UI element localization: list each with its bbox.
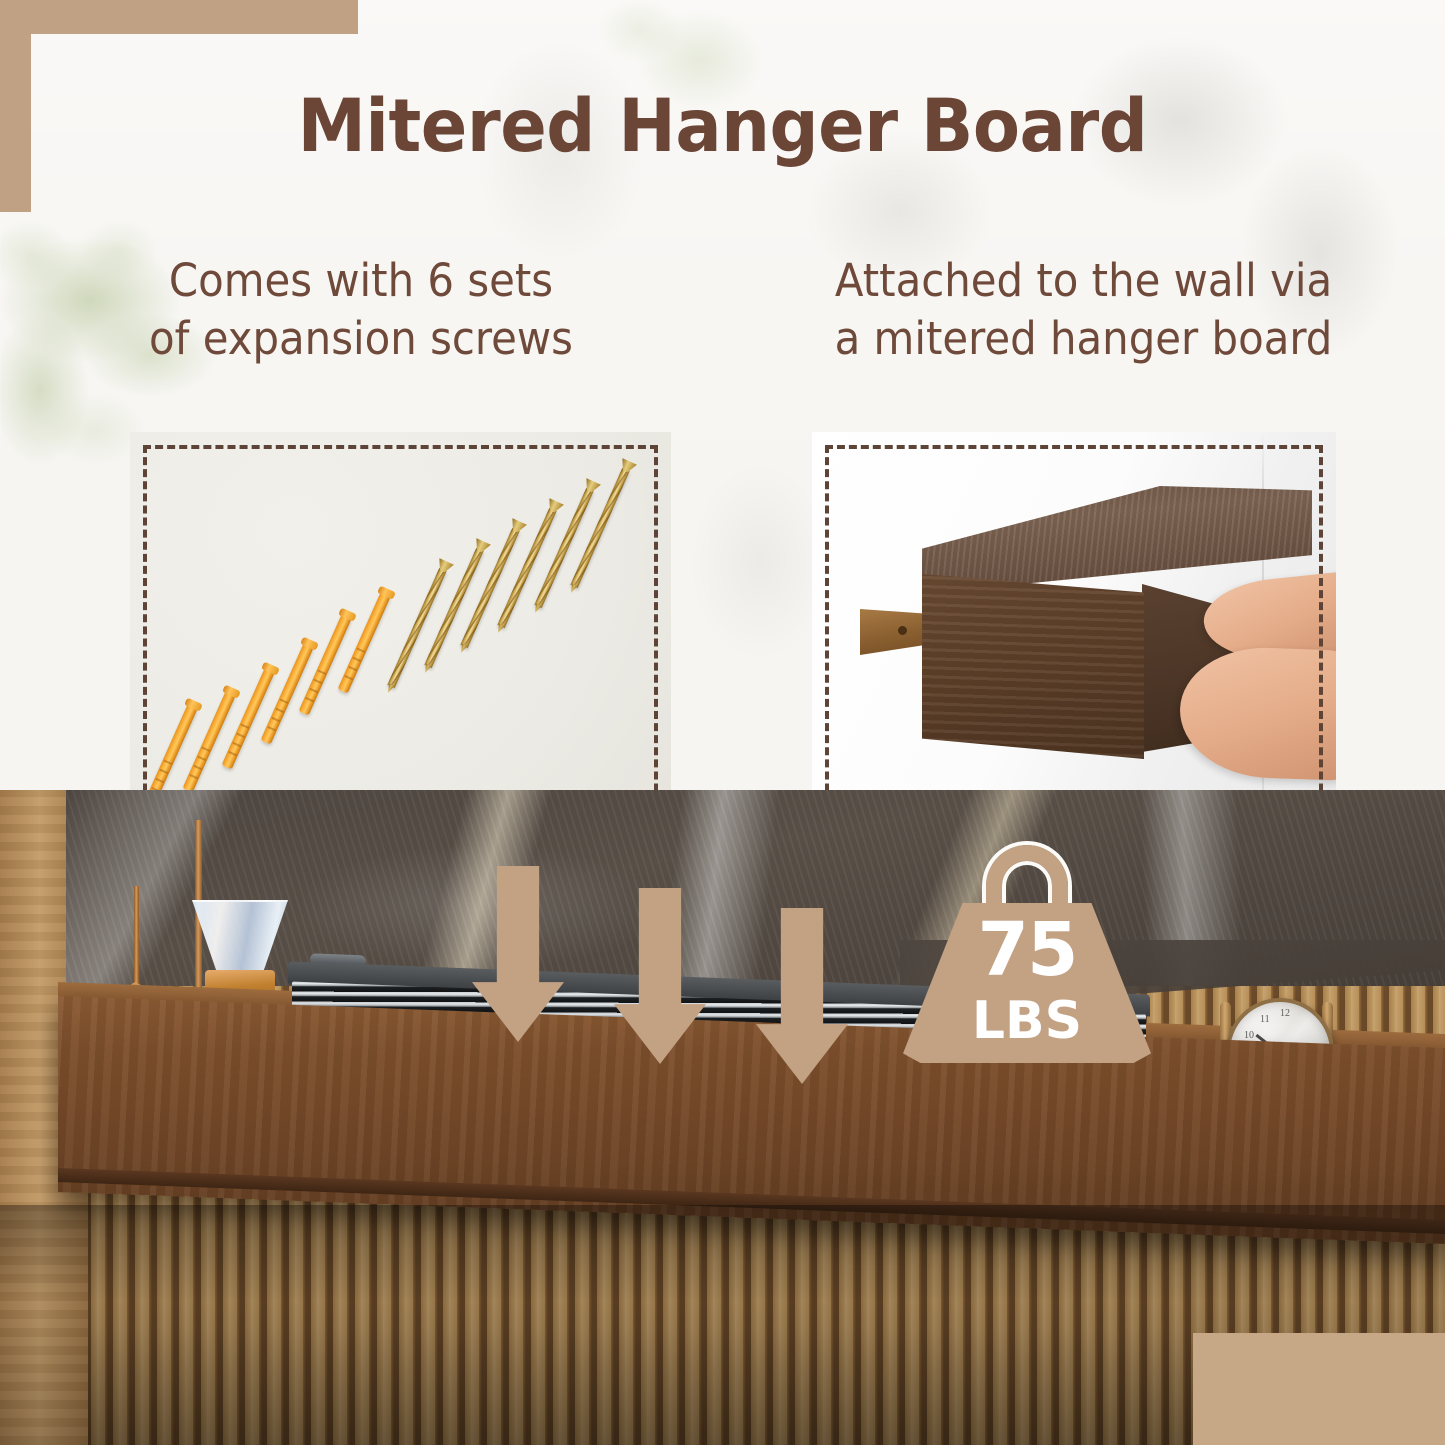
corner-frame-left-bar (0, 0, 31, 212)
page-title: Mitered Hanger Board (43, 90, 1401, 163)
caption-line-2: of expansion screws (25, 310, 696, 368)
clock-numeral: 11 (1260, 1014, 1270, 1025)
photo-panel-hanger-board (812, 432, 1336, 830)
weight-value: 75 (903, 913, 1151, 987)
mantel-front-face (922, 574, 1144, 759)
corner-frame-top-bar (0, 0, 358, 34)
installation-photo (812, 432, 1336, 830)
infographic-canvas: Mitered Hanger Board Comes with 6 sets o… (0, 0, 1445, 1445)
clock-numeral: 12 (1280, 1008, 1290, 1019)
corner-block-bottom-right (1193, 1333, 1445, 1445)
caption-line-2: a mitered hanger board (747, 310, 1419, 368)
weight-unit: LBS (903, 995, 1151, 1047)
caption-expansion-screws: Comes with 6 sets of expansion screws (25, 252, 696, 367)
weight-capacity-badge: 75 LBS (903, 845, 1151, 1063)
caption-hanger-board: Attached to the wall via a mitered hange… (747, 252, 1419, 367)
clock-numeral: 10 (1244, 1030, 1254, 1041)
photo-panel-expansion-screws (130, 432, 671, 830)
caption-line-1: Attached to the wall via (747, 252, 1419, 310)
screws-photo (130, 432, 671, 830)
caption-line-1: Comes with 6 sets (25, 252, 696, 310)
feature-captions: Comes with 6 sets of expansion screws At… (0, 252, 1445, 367)
